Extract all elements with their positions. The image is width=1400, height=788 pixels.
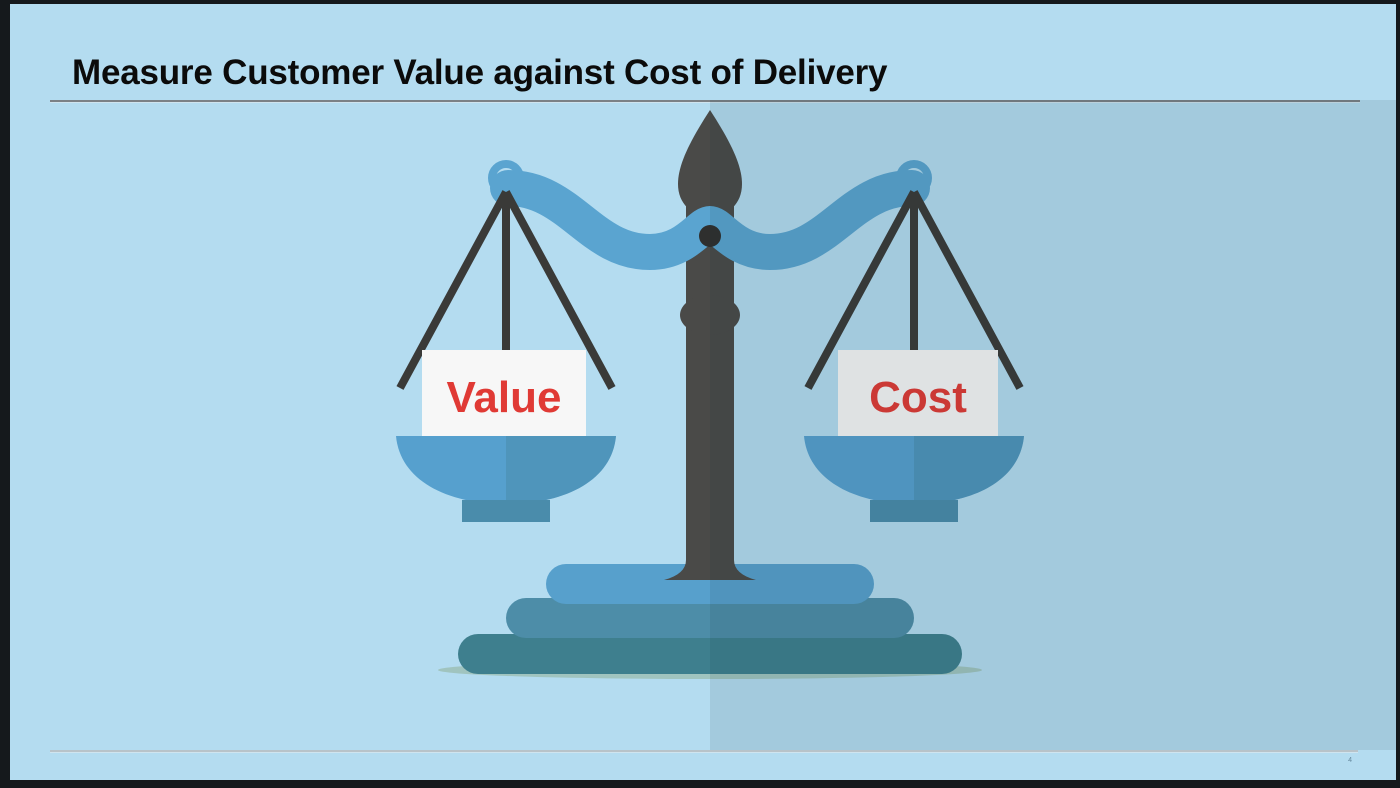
left-pan-label: Value bbox=[447, 373, 562, 422]
balance-scale-svg: Value Cost bbox=[10, 100, 1400, 750]
page-number: 4 bbox=[1348, 757, 1352, 764]
footer-divider bbox=[50, 750, 1358, 752]
balance-scale-illustration: Value Cost bbox=[10, 100, 1400, 750]
page-title: Measure Customer Value against Cost of D… bbox=[72, 53, 887, 93]
left-pan-bowl-shade bbox=[506, 436, 616, 504]
slide-canvas: Measure Customer Value against Cost of D… bbox=[0, 0, 1400, 788]
left-pan-foot bbox=[462, 500, 550, 522]
illustration-shade-overlay bbox=[710, 100, 1400, 750]
